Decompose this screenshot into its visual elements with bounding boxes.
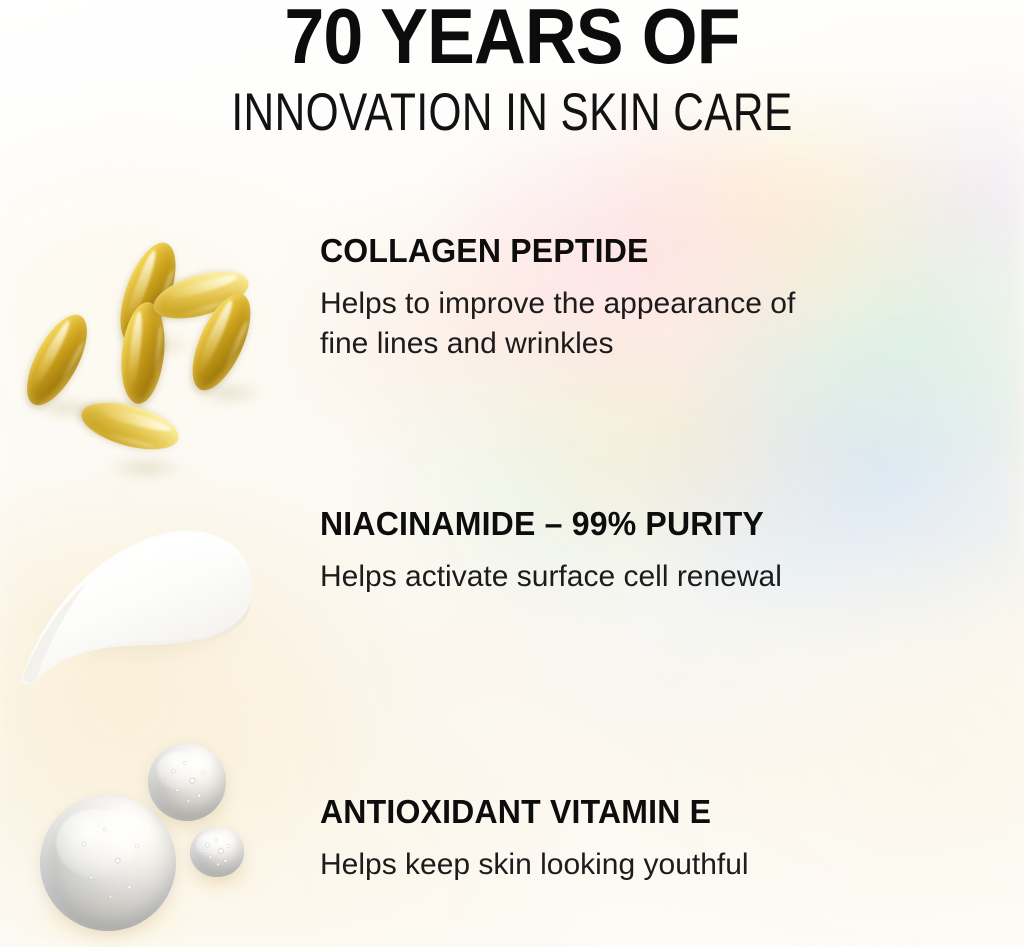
headline-subhead: INNOVATION IN SKIN CARE <box>102 84 921 142</box>
ingredient-text-collagen-peptide: COLLAGEN PEPTIDE Helps to improve the ap… <box>320 232 980 364</box>
softgel-capsule <box>77 394 184 459</box>
cream-swoosh-body <box>6 505 276 685</box>
capsule-shadow <box>106 456 186 480</box>
gel-droplet <box>148 743 226 821</box>
headline-block: 70 YEARS OF INNOVATION IN SKIN CARE <box>0 0 1024 142</box>
cream-swoosh-image <box>6 505 276 685</box>
ingredient-description: Helps to improve the appearance of fine … <box>320 284 880 364</box>
product-benefits-poster: 70 YEARS OF INNOVATION IN SKIN CARE COLL… <box>0 0 1024 947</box>
ingredient-text-vitamin-e: ANTIOXIDANT VITAMIN E Helps keep skin lo… <box>320 793 980 885</box>
ingredient-description-line: fine lines and wrinkles <box>320 324 880 364</box>
ingredient-row-niacinamide: NIACINAMIDE – 99% PURITY Helps activate … <box>0 505 1024 685</box>
ingredient-row-collagen-peptide: COLLAGEN PEPTIDE Helps to improve the ap… <box>0 232 1024 432</box>
ingredient-description: Helps activate surface cell renewal <box>320 557 880 597</box>
ingredient-title: ANTIOXIDANT VITAMIN E <box>320 793 960 831</box>
gel-droplet <box>190 827 244 877</box>
gel-droplet <box>40 795 176 931</box>
gel-droplets-image <box>0 735 280 947</box>
ingredient-description-line: Helps to improve the appearance of <box>320 284 880 324</box>
ingredient-row-vitamin-e: ANTIOXIDANT VITAMIN E Helps keep skin lo… <box>0 735 1024 947</box>
ingredient-description-line: Helps activate surface cell renewal <box>320 557 880 597</box>
ingredient-description-line: Helps keep skin looking youthful <box>320 845 880 885</box>
ingredient-text-niacinamide: NIACINAMIDE – 99% PURITY Helps activate … <box>320 505 980 597</box>
headline-primary: 70 YEARS OF <box>41 0 983 78</box>
ingredient-title: COLLAGEN PEPTIDE <box>320 232 960 270</box>
softgel-capsules-image <box>18 228 288 438</box>
ingredient-description: Helps keep skin looking youthful <box>320 845 880 885</box>
ingredient-title: NIACINAMIDE – 99% PURITY <box>320 505 960 543</box>
